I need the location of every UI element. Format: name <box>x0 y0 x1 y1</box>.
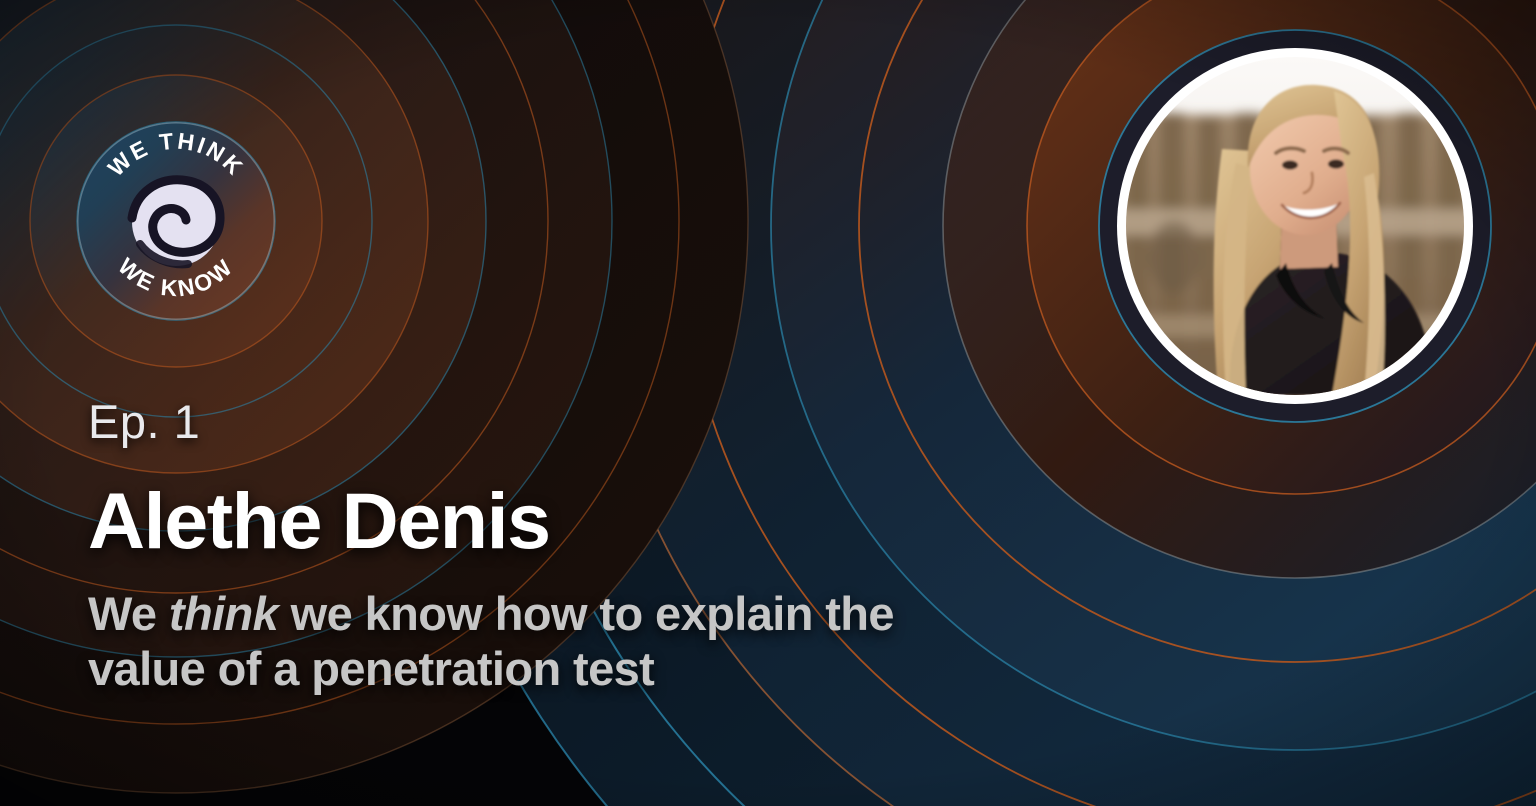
guest-name-heading: Alethe Denis <box>88 481 1068 560</box>
episode-text-block: Ep. 1 Alethe Denis We think we know how … <box>88 398 1068 697</box>
podcast-logo-badge: WE THINK WE KNOW <box>77 122 275 320</box>
portrait-photo <box>1126 57 1464 395</box>
episode-title-text: We think we know how to explain the valu… <box>88 586 1018 697</box>
episode-number-label: Ep. 1 <box>88 398 1068 445</box>
portrait-illustration <box>1126 57 1464 395</box>
guest-portrait <box>1117 48 1473 404</box>
badge-ring <box>77 122 275 320</box>
episode-cover-card: WE THINK WE KNOW <box>0 0 1536 806</box>
title-emphasis-word: think <box>169 587 278 640</box>
title-part-before: We <box>88 587 169 640</box>
